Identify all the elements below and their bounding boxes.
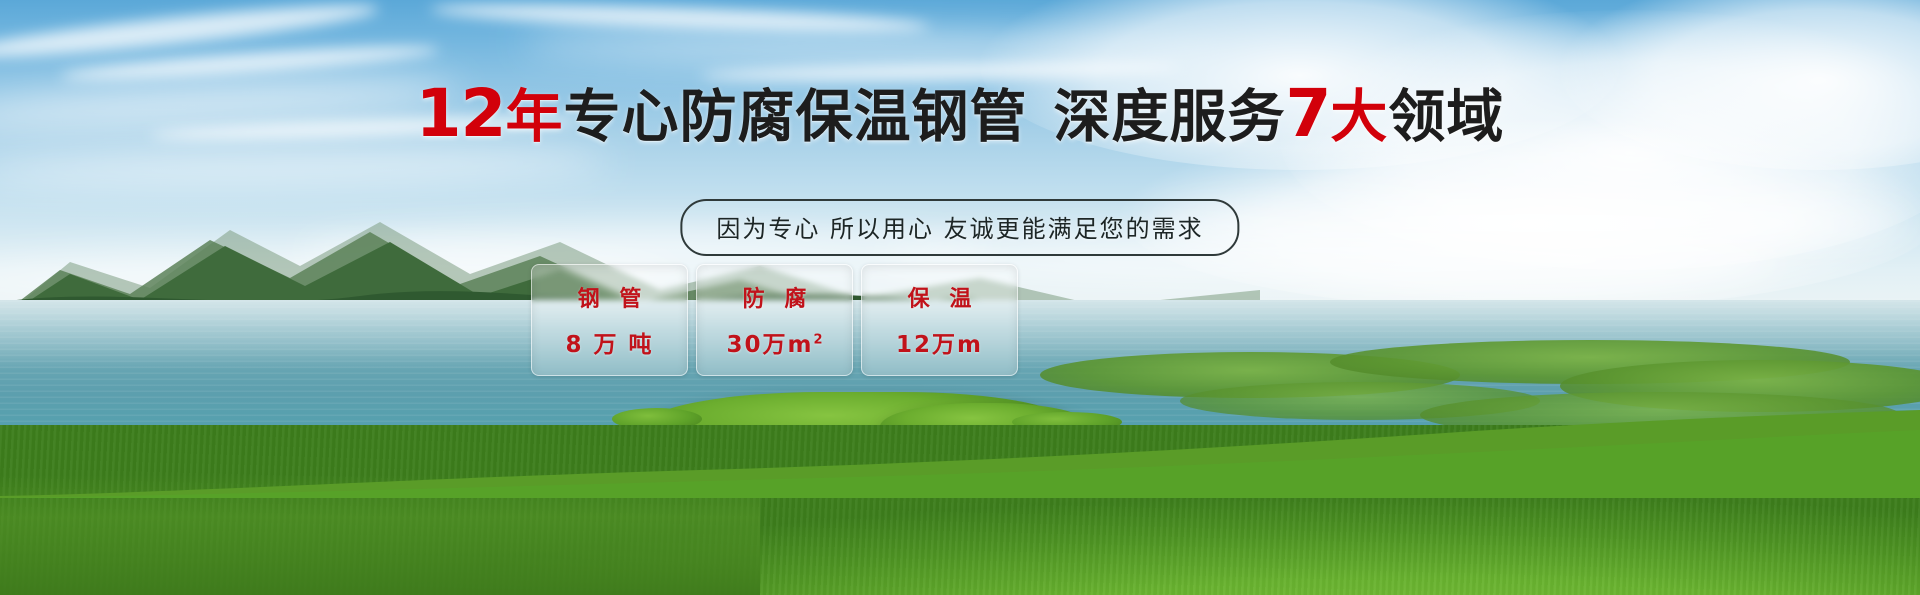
stat-card-value: 8 万 吨 [565, 325, 653, 359]
stat-card-label: 防 腐 [737, 281, 813, 313]
stat-value-superscript: 2 [813, 332, 822, 347]
stat-value-text: 30万m [726, 332, 813, 358]
headline-years-unit: 年 [505, 84, 563, 150]
promo-banner: 12年专心防腐保温钢管深度服务7大领域 因为专心 所以用心 友诚更能满足您的需求… [0, 0, 1920, 595]
stat-value-text: 8 万 吨 [565, 332, 653, 358]
stat-card-label: 钢 管 [572, 281, 648, 313]
stat-card-value: 30万m2 [726, 325, 822, 359]
stat-card-label: 保 温 [902, 281, 978, 313]
stat-card-value: 12万m [896, 325, 983, 359]
headline-years-number: 12 [416, 75, 506, 152]
banner-content: 12年专心防腐保温钢管深度服务7大领域 因为专心 所以用心 友诚更能满足您的需求… [0, 0, 1920, 595]
headline-fields-number: 7 [1285, 75, 1330, 152]
headline-segment-main: 专心防腐保温钢管 [563, 84, 1027, 150]
headline-fields-unit: 大 [1330, 84, 1388, 150]
stat-value-text: 12万m [896, 332, 983, 358]
headline-segment-service: 深度服务 [1053, 84, 1285, 150]
stat-card-insulation[interactable]: 保 温 12万m [861, 264, 1018, 376]
stat-card-anticorrosion[interactable]: 防 腐 30万m2 [696, 264, 853, 376]
subtitle-pill: 因为专心 所以用心 友诚更能满足您的需求 [680, 199, 1239, 256]
headline-segment-domain: 领域 [1388, 84, 1504, 150]
stat-card-steel-pipe[interactable]: 钢 管 8 万 吨 [531, 264, 688, 376]
headline: 12年专心防腐保温钢管深度服务7大领域 [0, 82, 1920, 149]
stat-card-group: 钢 管 8 万 吨 防 腐 30万m2 保 温 12万m [531, 264, 1018, 376]
